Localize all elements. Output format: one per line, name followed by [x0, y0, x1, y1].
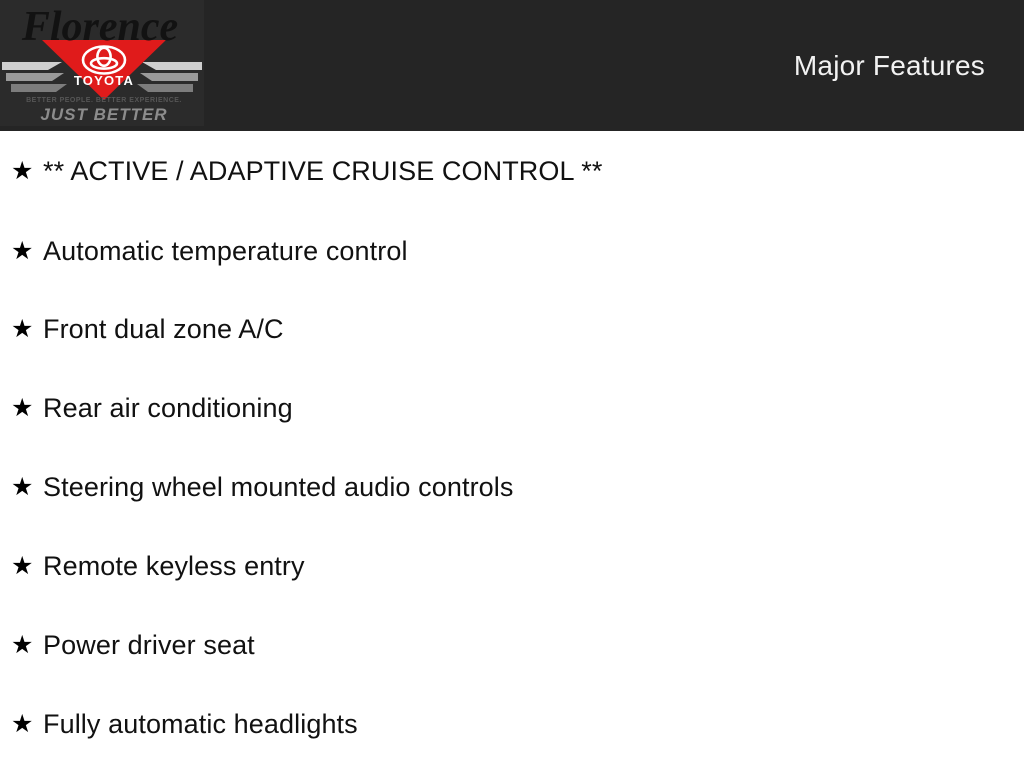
list-item: ★ ** ACTIVE / ADAPTIVE CRUISE CONTROL **	[0, 151, 1024, 191]
tagline-top: BETTER PEOPLE. BETTER EXPERIENCE.	[26, 97, 182, 104]
star-icon: ★	[11, 554, 43, 579]
florence-script: Florence	[21, 4, 178, 50]
list-item: ★ Power driver seat	[0, 625, 1024, 665]
feature-label: Remote keyless entry	[43, 549, 1024, 583]
star-icon: ★	[11, 159, 43, 184]
dealer-logo-graphic: TOYOTA Florence BETTER PEOPLE. BETTER EX…	[0, 0, 204, 126]
tagline-bottom: JUST BETTER	[40, 105, 167, 124]
toyota-wordmark: TOYOTA	[74, 73, 134, 88]
feature-label: Front dual zone A/C	[43, 312, 1024, 346]
dealer-logo[interactable]: TOYOTA Florence BETTER PEOPLE. BETTER EX…	[0, 0, 204, 126]
list-item: ★ Steering wheel mounted audio controls	[0, 467, 1024, 507]
feature-label: Rear air conditioning	[43, 391, 1024, 425]
list-item: ★ Front dual zone A/C	[0, 309, 1024, 349]
star-icon: ★	[11, 396, 43, 421]
list-item: ★ Automatic temperature control	[0, 231, 1024, 271]
feature-label: Fully automatic headlights	[43, 707, 1024, 741]
list-item: ★ Fully automatic headlights	[0, 704, 1024, 744]
star-icon: ★	[11, 475, 43, 500]
star-icon: ★	[11, 239, 43, 264]
feature-label: ** ACTIVE / ADAPTIVE CRUISE CONTROL **	[43, 154, 1024, 188]
star-icon: ★	[11, 712, 43, 737]
feature-label: Steering wheel mounted audio controls	[43, 470, 1024, 504]
star-icon: ★	[11, 633, 43, 658]
list-item: ★ Remote keyless entry	[0, 546, 1024, 586]
page-title: Major Features	[794, 50, 985, 82]
feature-label: Power driver seat	[43, 628, 1024, 662]
feature-label: Automatic temperature control	[43, 234, 1024, 268]
star-icon: ★	[11, 317, 43, 342]
list-item: ★ Rear air conditioning	[0, 388, 1024, 428]
major-features-list: ★ ** ACTIVE / ADAPTIVE CRUISE CONTROL **…	[0, 131, 1024, 768]
page-header: TOYOTA Florence BETTER PEOPLE. BETTER EX…	[0, 0, 1024, 131]
